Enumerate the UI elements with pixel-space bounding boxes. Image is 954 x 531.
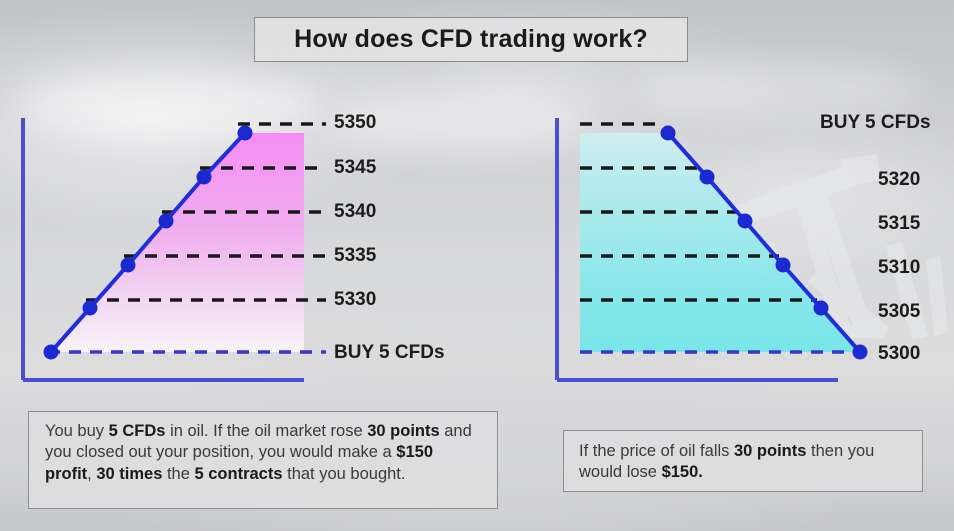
caption-text: that you bought. [283, 465, 406, 483]
axis-tick-label: 5315 [878, 214, 920, 233]
caption-emphasis: $150. [662, 463, 703, 481]
caption-emphasis: 30 times [96, 465, 162, 483]
axis-tick-label: 5350 [334, 113, 376, 132]
caption-text: , [87, 465, 96, 483]
chart-falling-market: BUY 5 CFDs 5320 5315 5310 5305 5300 [548, 112, 948, 392]
caption-rising-market: You buy 5 CFDs in oil. If the oil market… [28, 411, 498, 509]
axis-tick-label: 5320 [878, 170, 920, 189]
caption-text: If the price of oil falls [579, 442, 734, 460]
caption-emphasis: 30 points [734, 442, 806, 460]
caption-text: the [162, 465, 194, 483]
page-title: How does CFD trading work? [254, 17, 688, 62]
data-point [700, 170, 715, 185]
area-fill-falling [580, 133, 860, 352]
cloud-texture [640, 60, 920, 120]
axis-entry-label: BUY 5 CFDs [334, 343, 445, 362]
axis-tick-label: 5305 [878, 302, 920, 321]
axis-tick-label: 5345 [334, 158, 376, 177]
axis-tick-label: 5300 [878, 344, 920, 363]
caption-emphasis: 30 points [367, 422, 439, 440]
data-point [776, 258, 791, 273]
data-point [738, 214, 753, 229]
axis-tick-label: 5335 [334, 246, 376, 265]
axis-tick-label: 5330 [334, 290, 376, 309]
data-point [83, 301, 98, 316]
data-point [121, 258, 136, 273]
caption-emphasis: 5 contracts [194, 465, 282, 483]
infographic-canvas: How does CFD trading work? [0, 0, 954, 531]
data-point [44, 345, 59, 360]
chart-rising-market: 5350 5345 5340 5335 5330 BUY 5 CFDs [14, 112, 414, 392]
axis-tick-label: 5310 [878, 258, 920, 277]
data-point [661, 126, 676, 141]
data-point [159, 214, 174, 229]
data-point [238, 126, 253, 141]
caption-falling-market: If the price of oil falls 30 points then… [563, 430, 923, 492]
caption-text: in oil. If the oil market rose [165, 422, 367, 440]
axis-entry-label: BUY 5 CFDs [820, 113, 931, 132]
caption-text: You buy [45, 422, 109, 440]
page-title-text: How does CFD trading work? [294, 25, 648, 54]
caption-emphasis: 5 CFDs [109, 422, 166, 440]
data-point [853, 345, 868, 360]
area-fill-rising [51, 133, 304, 352]
data-point [197, 170, 212, 185]
axis-tick-label: 5340 [334, 202, 376, 221]
data-point [814, 301, 829, 316]
